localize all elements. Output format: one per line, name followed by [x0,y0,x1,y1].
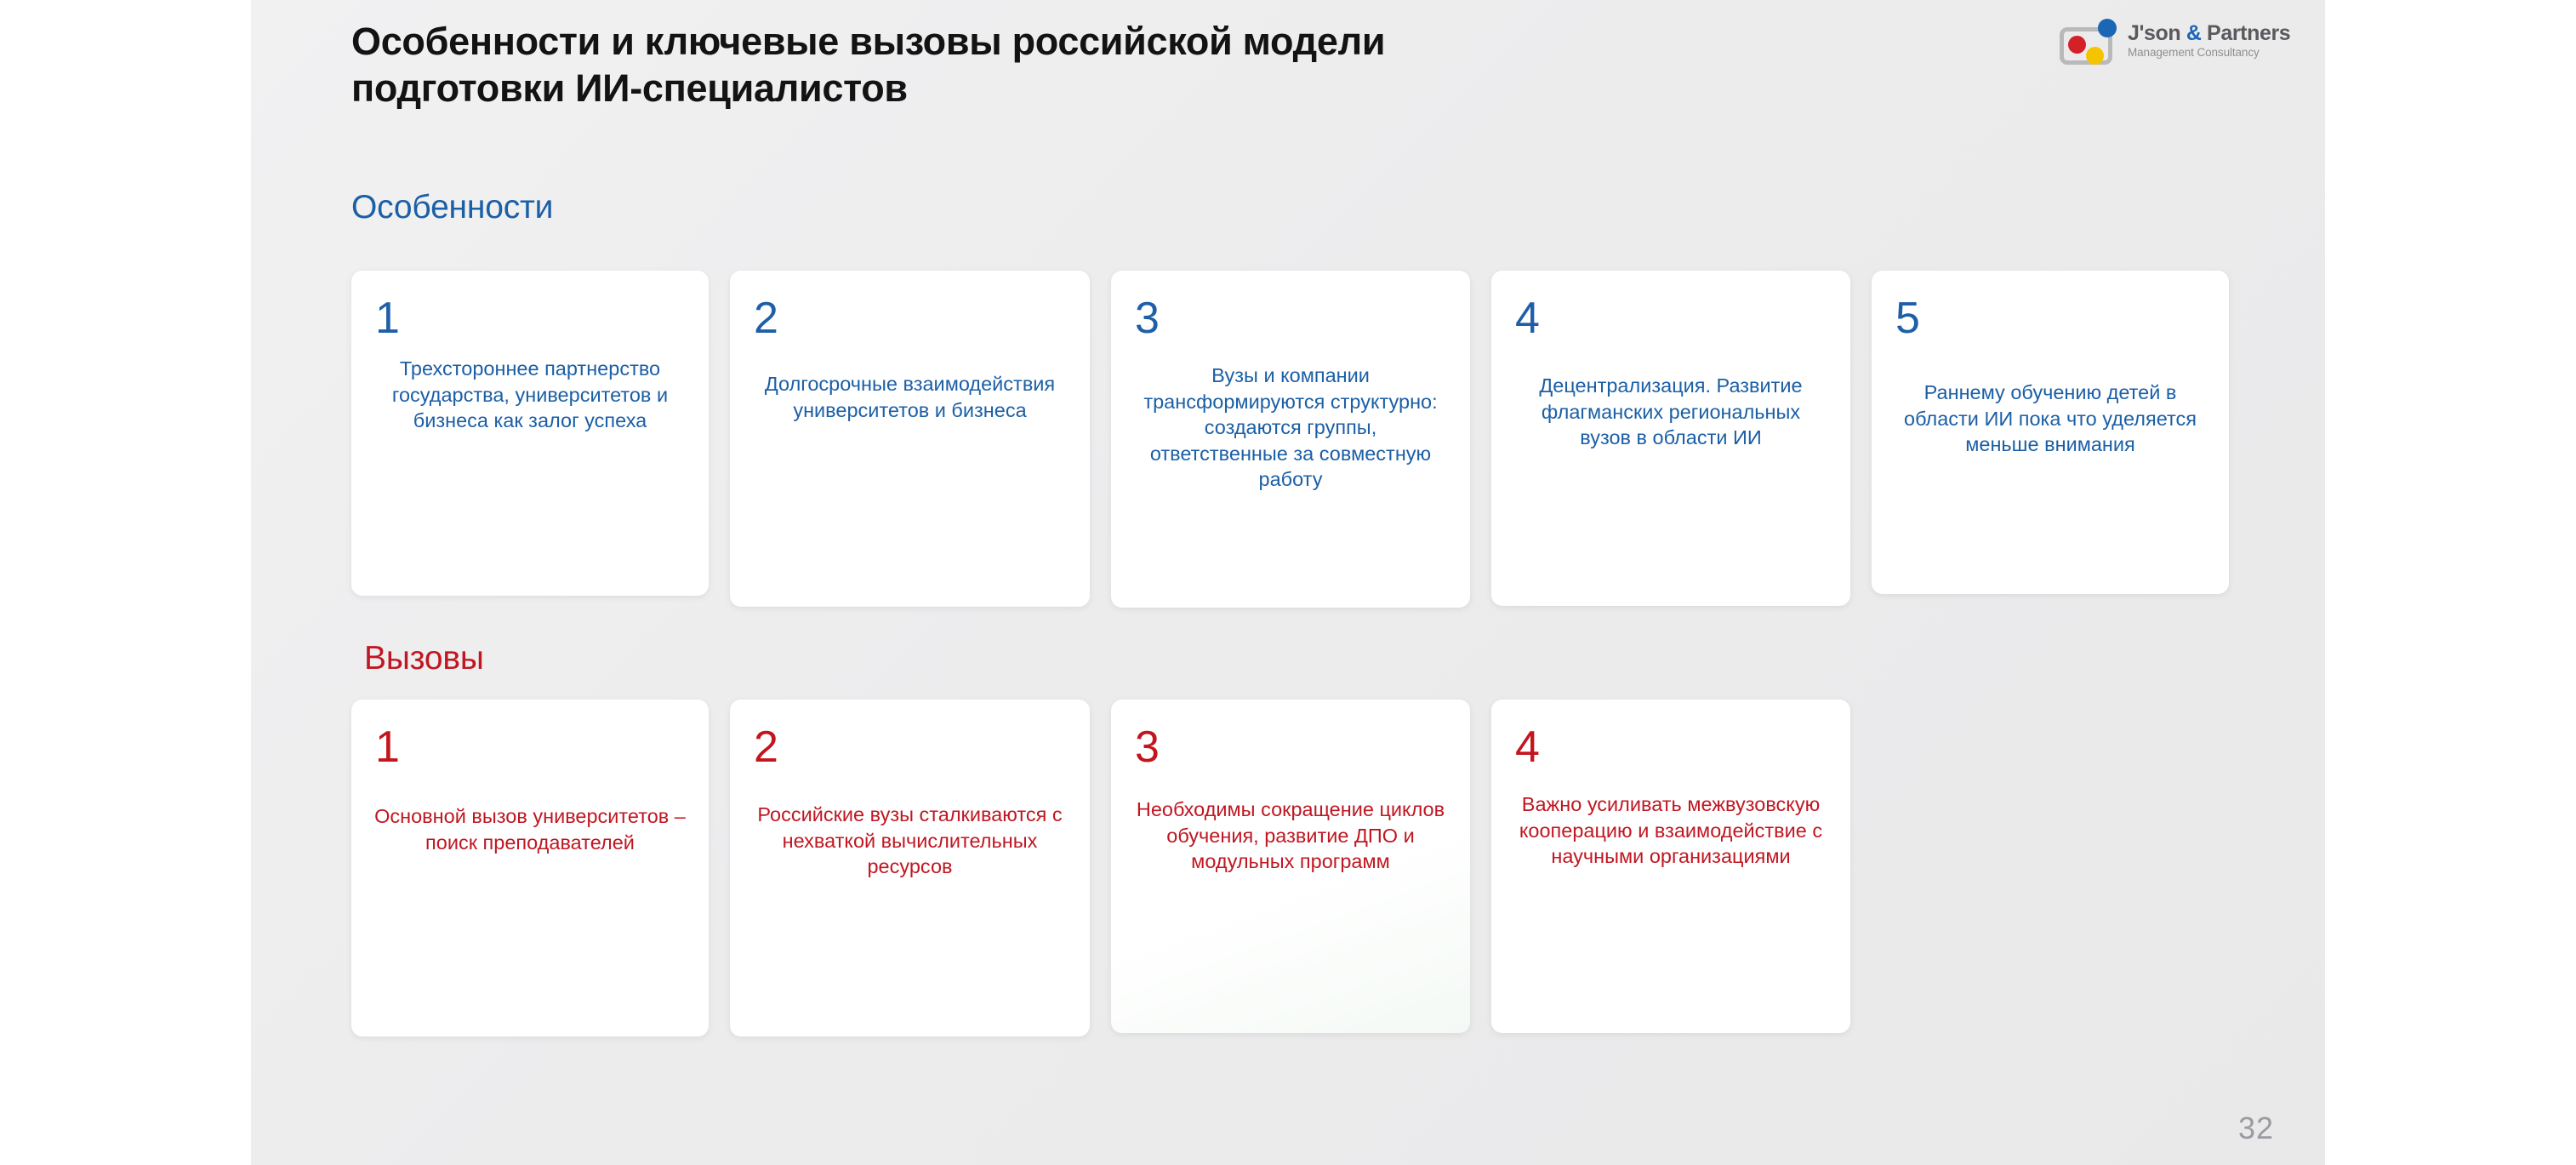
challenge-card-1-number: 1 [375,725,690,769]
feature-card-4-text: Децентрализация. Развитие флагманских ре… [1510,373,1832,451]
feature-card-5-number: 5 [1895,296,2210,340]
page-title-line-1: Особенности и ключевые вызовы российской… [351,19,1883,66]
feature-card-2[interactable]: 2 Долгосрочные взаимодействия университе… [730,271,1090,607]
logo-blue-dot-icon [2098,19,2117,37]
logo-mark-icon [2056,19,2123,66]
challenge-card-3[interactable]: 3 Необходимы сокращение циклов обучения,… [1111,700,1470,1033]
feature-card-4-number: 4 [1515,296,1832,340]
logo-ampersand: & [2186,21,2202,45]
feature-card-5[interactable]: 5 Раннему обучению детей в области ИИ по… [1872,271,2229,594]
feature-card-2-number: 2 [754,296,1071,340]
page-title-line-2: подготовки ИИ-специалистов [351,66,1883,112]
challenge-card-4-number: 4 [1515,725,1832,769]
challenge-card-2-text: Российские вузы сталкиваются с нехваткой… [749,802,1071,880]
challenge-card-4-text: Важно усиливать межвузовскую кооперацию … [1510,791,1832,870]
challenge-card-1[interactable]: 1 Основной вызов университетов – поиск п… [351,700,709,1037]
challenges-section-heading: Вызовы [364,640,484,677]
feature-card-3[interactable]: 3 Вузы и компании трансформируются струк… [1111,271,1470,608]
challenge-card-3-text: Необходимы сокращение циклов обучения, р… [1130,797,1451,875]
feature-card-3-number: 3 [1135,296,1451,340]
challenge-card-2-number: 2 [754,725,1071,769]
feature-card-1-number: 1 [375,296,690,340]
logo-yellow-dot-icon [2086,47,2104,65]
slide-canvas: Особенности и ключевые вызовы российской… [251,0,2325,1165]
challenge-card-2[interactable]: 2 Российские вузы сталкиваются с нехватк… [730,700,1090,1037]
feature-card-1-text: Трехстороннее партнерство государства, у… [370,356,690,434]
features-card-row: 1 Трехстороннее партнерство государства,… [351,271,2229,608]
challenge-card-4[interactable]: 4 Важно усиливать межвузовскую коопераци… [1491,700,1850,1033]
logo-red-dot-icon [2068,36,2086,54]
logo-company-name: J'son & Partners [2128,22,2303,44]
page-number: 32 [2238,1111,2274,1146]
feature-card-1[interactable]: 1 Трехстороннее партнерство государства,… [351,271,709,596]
company-logo: J'son & Partners Management Consultancy [2056,12,2303,78]
logo-name-part1: J'son [2128,21,2186,45]
logo-text-block: J'son & Partners Management Consultancy [2128,22,2303,59]
feature-card-4[interactable]: 4 Децентрализация. Развитие флагманских … [1491,271,1850,606]
page-title: Особенности и ключевые вызовы российской… [351,19,1883,112]
logo-name-part2: Partners [2202,21,2291,45]
challenges-card-row: 1 Основной вызов университетов – поиск п… [351,700,1850,1037]
challenge-card-1-text: Основной вызов университетов – поиск пре… [370,803,690,855]
features-section-heading: Особенности [351,189,553,226]
feature-card-3-text: Вузы и компании трансформируются структу… [1130,363,1451,493]
feature-card-5-text: Раннему обучению детей в области ИИ пока… [1890,380,2210,458]
feature-card-2-text: Долгосрочные взаимодействия университето… [749,371,1071,423]
challenge-card-3-number: 3 [1135,725,1451,769]
logo-tagline: Management Consultancy [2128,46,2303,59]
